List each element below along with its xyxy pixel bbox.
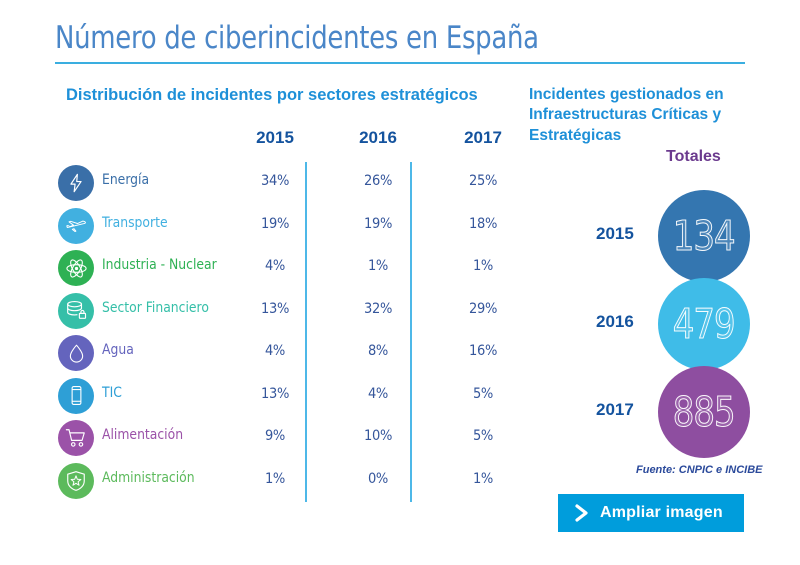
- cell-percentage: 1%: [343, 258, 413, 274]
- column-header-2016: 2016: [343, 128, 413, 148]
- cell-percentage: 8%: [343, 343, 413, 359]
- table-row: Energía34%26%25%: [55, 162, 500, 205]
- table-row: Industria - Nuclear4%1%1%: [55, 247, 500, 290]
- cell-percentage: 0%: [343, 471, 413, 487]
- table-row: Transporte19%19%18%: [55, 205, 500, 248]
- lightning-bolt-icon: [58, 165, 94, 201]
- table-row: Administración1%0%1%: [55, 460, 500, 503]
- cell-percentage: 5%: [448, 386, 518, 402]
- cell-percentage: 4%: [240, 258, 310, 274]
- page-title: Número de ciberincidentes en España: [55, 20, 539, 56]
- ampliar-imagen-button[interactable]: Ampliar imagen: [558, 494, 744, 532]
- cell-percentage: 1%: [240, 471, 310, 487]
- total-year-label: 2015: [596, 224, 634, 244]
- source-note: Fuente: CNPIC e INCIBE: [636, 464, 763, 476]
- table-header-row: 2015 2016 2017: [55, 128, 500, 158]
- left-panel-heading: Distribución de incidentes por sectores …: [66, 86, 478, 105]
- cell-percentage: 18%: [448, 216, 518, 232]
- cell-percentage: 9%: [240, 428, 310, 444]
- sector-distribution-table: 2015 2016 2017 Energía34%26%25%Transport…: [55, 128, 500, 513]
- total-value: 479: [673, 304, 735, 345]
- totals-label: Totales: [666, 148, 721, 166]
- total-circle: 134: [658, 190, 750, 282]
- cell-percentage: 13%: [240, 301, 310, 317]
- total-row: 2015134: [560, 190, 790, 285]
- column-header-2017: 2017: [448, 128, 518, 148]
- total-year-label: 2017: [596, 400, 634, 420]
- cell-percentage: 19%: [240, 216, 310, 232]
- total-circle: 885: [658, 366, 750, 458]
- shield-star-icon: [58, 463, 94, 499]
- cell-percentage: 10%: [343, 428, 413, 444]
- total-value: 134: [673, 216, 735, 257]
- title-divider: [55, 62, 745, 64]
- cell-percentage: 4%: [240, 343, 310, 359]
- cell-percentage: 4%: [343, 386, 413, 402]
- table-row: TIC13%4%5%: [55, 375, 500, 418]
- atom-icon: [58, 250, 94, 286]
- table-row: Alimentación9%10%5%: [55, 417, 500, 460]
- column-header-2015: 2015: [240, 128, 310, 148]
- water-drop-icon: [58, 335, 94, 371]
- sector-label: Energía: [102, 172, 149, 188]
- cell-percentage: 34%: [240, 173, 310, 189]
- total-value: 885: [673, 392, 735, 433]
- smartphone-icon: [58, 378, 94, 414]
- cell-percentage: 26%: [343, 173, 413, 189]
- cell-percentage: 5%: [448, 428, 518, 444]
- cell-percentage: 29%: [448, 301, 518, 317]
- sector-label: Administración: [102, 470, 195, 486]
- ampliar-imagen-label: Ampliar imagen: [600, 504, 723, 522]
- shopping-cart-icon: [58, 420, 94, 456]
- chevron-right-icon: [574, 503, 590, 523]
- sector-label: TIC: [102, 385, 122, 401]
- total-year-label: 2016: [596, 312, 634, 332]
- sector-label: Industria - Nuclear: [102, 257, 217, 273]
- total-circle: 479: [658, 278, 750, 370]
- total-row: 2017885: [560, 366, 790, 461]
- table-row: Agua4%8%16%: [55, 332, 500, 375]
- sector-label: Sector Financiero: [102, 300, 209, 316]
- cell-percentage: 16%: [448, 343, 518, 359]
- sector-label: Transporte: [102, 215, 168, 231]
- airplane-icon: [58, 208, 94, 244]
- cell-percentage: 13%: [240, 386, 310, 402]
- total-row: 2016479: [560, 278, 790, 373]
- right-panel-heading: Incidentes gestionados en Infraestructur…: [529, 85, 774, 146]
- database-lock-icon: [58, 293, 94, 329]
- cell-percentage: 25%: [448, 173, 518, 189]
- cell-percentage: 32%: [343, 301, 413, 317]
- table-body: Energía34%26%25%Transporte19%19%18%Indus…: [55, 162, 500, 502]
- cell-percentage: 19%: [343, 216, 413, 232]
- cell-percentage: 1%: [448, 258, 518, 274]
- table-row: Sector Financiero13%32%29%: [55, 290, 500, 333]
- sector-label: Alimentación: [102, 427, 183, 443]
- cell-percentage: 1%: [448, 471, 518, 487]
- sector-label: Agua: [102, 342, 134, 358]
